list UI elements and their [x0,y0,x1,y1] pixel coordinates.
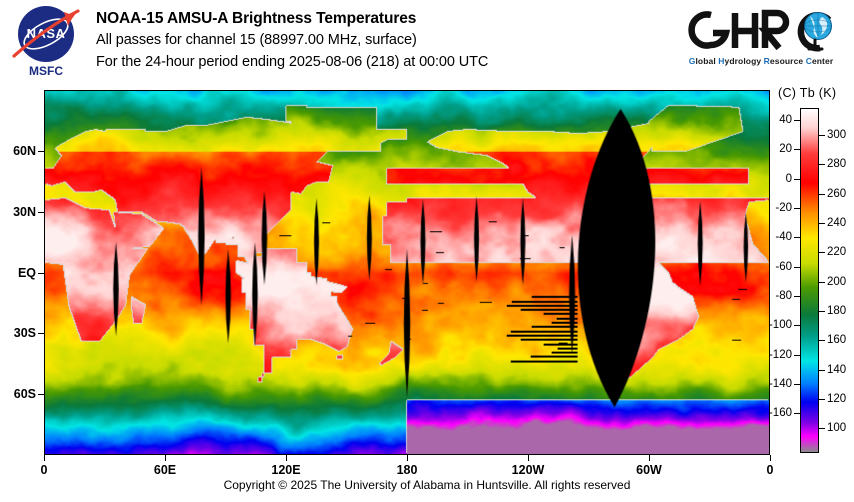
colorbar-tick-c [794,296,800,297]
map-xlabel: 0 [740,463,800,477]
colorbar-label-k: 200 [827,276,846,288]
colorbar-tick-k [819,311,825,312]
colorbar-tick-c [794,237,800,238]
map-xlabel: 120W [498,463,558,477]
colorbar-tick-k [819,252,825,253]
map-ytick [38,273,44,274]
colorbar-gradient [801,109,818,452]
colorbar-tick-c [794,208,800,209]
colorbar-header: (C) Tb (K) [778,86,836,100]
colorbar-label-k: 280 [827,158,846,170]
map-xtick [165,455,166,461]
colorbar-label-k: 180 [827,305,846,317]
title-block: NOAA-15 AMSU-A Brightness Temperatures A… [96,8,488,73]
colorbar-tick-k [819,428,825,429]
colorbar-label-c: -140 [754,378,792,390]
map-ytick [38,333,44,334]
map-xlabel: 60W [619,463,679,477]
colorbar-tick-k [819,135,825,136]
map-ylabel: EQ [0,266,36,280]
map-xtick [649,455,650,461]
map-xlabel: 120E [256,463,316,477]
copyright-notice: Copyright © 2025 The University of Alaba… [0,478,854,492]
nasa-center-label: MSFC [10,64,82,78]
colorbar-tick-k [819,399,825,400]
colorbar-label-c: -60 [754,261,792,273]
colorbar-tick-c [794,149,800,150]
map-ylabel: 60N [0,144,36,158]
map-ytick [38,394,44,395]
map-xtick [44,455,45,461]
colorbar-tick-k [819,340,825,341]
colorbar-tick-c [794,384,800,385]
nasa-logo: NASA MSFC [10,6,82,82]
map-xlabel: 60E [135,463,195,477]
colorbar-tick-k [819,164,825,165]
colorbar-label-c: -80 [754,290,792,302]
map-xtick [770,455,771,461]
colorbar-tick-c [794,267,800,268]
map-ylabel: 30S [0,326,36,340]
colorbar-label-k: 160 [827,334,846,346]
colorbar-label-k: 140 [827,364,846,376]
colorbar-tick-k [819,194,825,195]
colorbar-tick-c [794,413,800,414]
colorbar-label-k: 120 [827,393,846,405]
colorbar-label-k: 100 [827,422,846,434]
colorbar-label-c: 20 [754,143,792,155]
colorbar-label-c: 0 [754,173,792,185]
colorbar-label-c: -120 [754,349,792,361]
colorbar-label-k: 240 [827,217,846,229]
map-ytick [38,212,44,213]
colorbar-label-k: 220 [827,246,846,258]
page-title: NOAA-15 AMSU-A Brightness Temperatures [96,8,488,29]
colorbar-label-k: 260 [827,188,846,200]
nasa-swoosh-icon [12,8,80,60]
colorbar-label-c: -20 [754,202,792,214]
colorbar-tick-c [794,179,800,180]
colorbar-label-c: -100 [754,319,792,331]
ghrc-logo: Global Hydrology Resource Center [677,4,842,76]
colorbar-tick-c [794,120,800,121]
colorbar-tick-k [819,223,825,224]
map-xlabel: 180 [377,463,437,477]
map-xlabel: 0 [14,463,74,477]
map-ylabel: 60S [0,387,36,401]
colorbar[interactable] [800,108,819,453]
map-xtick [407,455,408,461]
page-subtitle-period: For the 24-hour period ending 2025-08-06… [96,51,488,73]
map-ytick [38,151,44,152]
colorbar-tick-k [819,370,825,371]
header-banner: NASA MSFC NOAA-15 AMSU-A Brightness Temp… [0,0,854,88]
ghrc-tagline: Global Hydrology Resource Center [680,56,842,66]
page-subtitle-channel: All passes for channel 15 (88997.00 MHz,… [96,29,488,51]
map-data-layer[interactable] [45,91,769,454]
map-ylabel: 30N [0,205,36,219]
colorbar-label-c: -160 [754,407,792,419]
map-xtick [528,455,529,461]
brightness-temperature-map[interactable] [44,90,770,455]
colorbar-tick-c [794,325,800,326]
map-xtick [286,455,287,461]
colorbar-label-k: 300 [827,129,846,141]
colorbar-label-c: 40 [754,114,792,126]
colorbar-tick-c [794,355,800,356]
colorbar-label-c: -40 [754,231,792,243]
ghrc-wordmark-icon [677,4,842,56]
colorbar-tick-k [819,282,825,283]
